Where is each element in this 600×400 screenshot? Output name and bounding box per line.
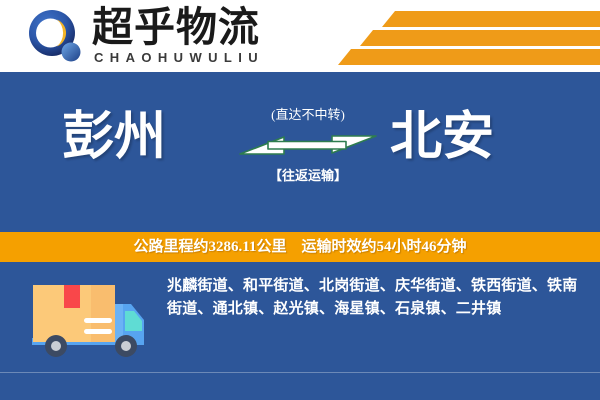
route-section: 彭州 (直达不中转) 【往返运输】 北安: [0, 72, 600, 232]
route-info-summary: 公路里程约3286.11公里 运输时效约54小时46分钟: [134, 232, 467, 262]
brand-name-cn: 超乎物流: [92, 7, 260, 48]
brand-logo-icon: [27, 9, 83, 65]
banner-header: 超乎物流 CHAOHUWULIU: [0, 0, 600, 72]
logistics-route-banner: 超乎物流 CHAOHUWULIU 彭州 (直达不中转) 【往返运输】: [0, 0, 600, 400]
direct-route-note: (直达不中转): [238, 106, 378, 123]
stripe-3: [338, 49, 600, 65]
coverage-area-list: 兆麟街道、和平街道、北岗街道、庆华街道、铁西街道、铁南街道、通北镇、赵光镇、海星…: [167, 275, 579, 321]
bottom-divider: [0, 372, 600, 373]
route-info-bar: 公路里程约3286.11公里 运输时效约54小时46分钟: [0, 232, 600, 262]
stripe-2: [360, 30, 600, 46]
roundtrip-tag: 【往返运输】: [238, 167, 378, 184]
stripe-1: [382, 11, 600, 27]
delivery-truck-icon: [28, 280, 148, 358]
brand-name-en: CHAOHUWULIU: [94, 51, 264, 64]
origin-city: 彭州: [62, 108, 166, 168]
header-stripes-icon: [330, 0, 600, 72]
double-headed-arrow-icon: [238, 128, 378, 162]
route-middle-group: (直达不中转) 【往返运输】: [238, 106, 378, 184]
destination-city: 北安: [390, 108, 494, 168]
coverage-section: 兆麟街道、和平街道、北岗街道、庆华街道、铁西街道、铁南街道、通北镇、赵光镇、海星…: [0, 262, 600, 400]
